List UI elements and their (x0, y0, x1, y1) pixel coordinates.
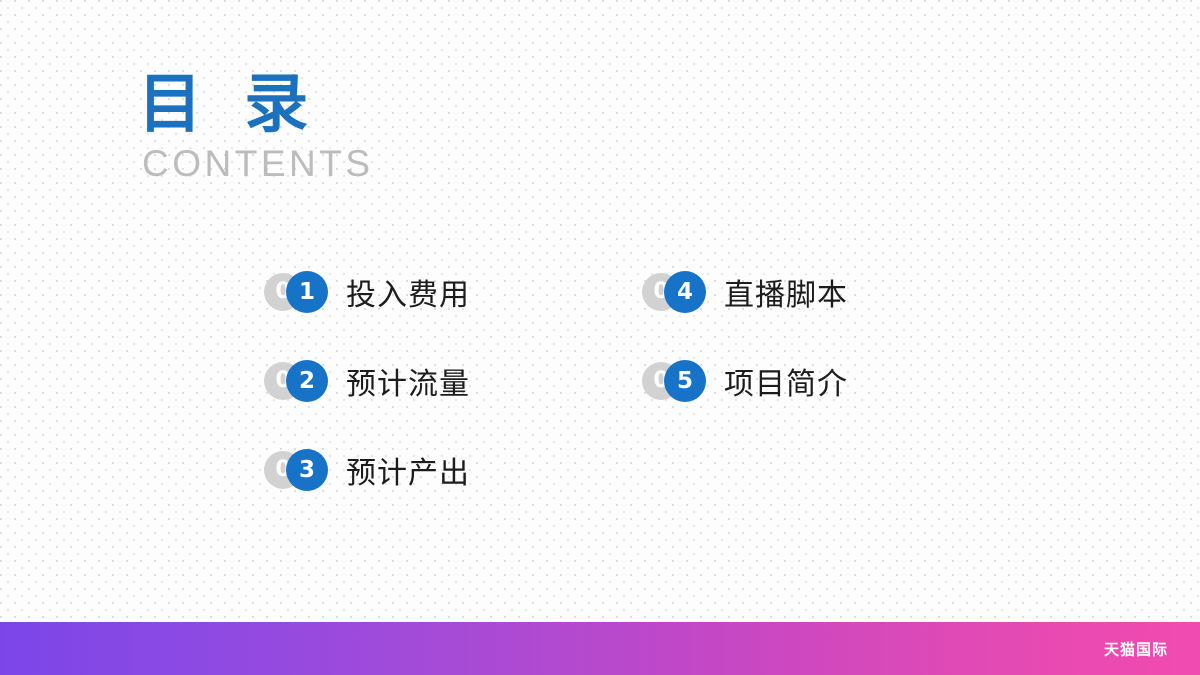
badge-number: 2 (286, 360, 328, 402)
title-block: 目 录 CONTENTS (138, 72, 374, 184)
toc-item-3[interactable]: 0 3 预计产出 (262, 444, 470, 496)
toc-item-1[interactable]: 0 1 投入费用 (262, 266, 470, 318)
toc-badge-5: 0 5 (640, 359, 712, 403)
badge-number: 5 (664, 360, 706, 402)
badge-number: 4 (664, 271, 706, 313)
toc-label-1: 投入费用 (346, 270, 470, 314)
page-subtitle: CONTENTS (142, 145, 374, 184)
toc-label-2: 预计流量 (346, 359, 470, 403)
page-title: 目 录 (138, 72, 374, 139)
toc-badge-1: 0 1 (262, 270, 334, 314)
badge-number: 1 (286, 271, 328, 313)
slide-canvas: 目 录 CONTENTS 0 1 投入费用 0 2 预计流量 0 3 预计产出 (0, 0, 1200, 675)
toc-item-5[interactable]: 0 5 项目简介 (640, 355, 848, 407)
toc-item-2[interactable]: 0 2 预计流量 (262, 355, 470, 407)
brand-logo: 天猫国际 (1104, 638, 1168, 659)
toc-label-4: 直播脚本 (724, 270, 848, 314)
toc-badge-2: 0 2 (262, 359, 334, 403)
toc-item-4[interactable]: 0 4 直播脚本 (640, 266, 848, 318)
toc-badge-3: 0 3 (262, 448, 334, 492)
contents-list: 0 1 投入费用 0 2 预计流量 0 3 预计产出 0 4 直播脚本 (262, 266, 1092, 506)
toc-label-5: 项目简介 (724, 359, 848, 403)
badge-number: 3 (286, 449, 328, 491)
toc-badge-4: 0 4 (640, 270, 712, 314)
bottom-gradient-bar: 天猫国际 (0, 622, 1200, 675)
toc-label-3: 预计产出 (346, 448, 470, 492)
